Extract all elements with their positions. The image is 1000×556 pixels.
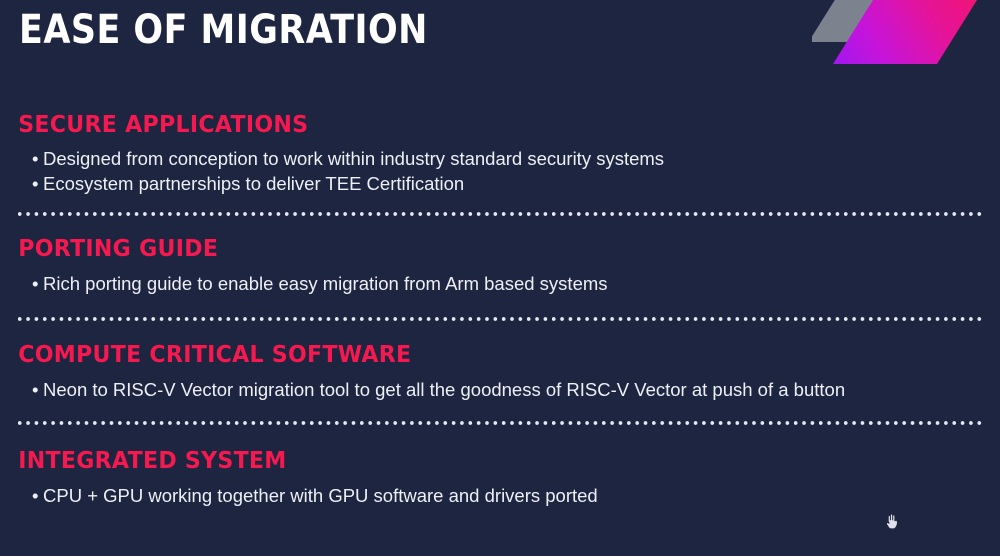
list-item-label: Designed from conception to work within … [43, 148, 664, 169]
list-item: • Designed from conception to work withi… [0, 146, 1000, 171]
dotted-divider [18, 418, 984, 428]
dotted-divider [18, 209, 984, 219]
bullet-list: • Neon to RISC-V Vector migration tool t… [0, 377, 1000, 402]
bullet-marker-icon: • [32, 146, 38, 171]
section-heading: COMPUTE CRITICAL SOFTWARE [0, 342, 960, 368]
brand-logo [812, 0, 992, 70]
list-item-label: Rich porting guide to enable easy migrat… [43, 273, 608, 294]
grab-hand-cursor-icon [884, 512, 900, 530]
section-compute-critical-software: COMPUTE CRITICAL SOFTWARE • Neon to RISC… [0, 342, 1000, 402]
presentation-slide: EASE OF MIGRATION SECURE APPLICATIONS • … [0, 0, 1000, 556]
bullet-marker-icon: • [32, 483, 38, 508]
list-item-label: Neon to RISC-V Vector migration tool to … [43, 379, 845, 400]
list-item-label: Ecosystem partnerships to deliver TEE Ce… [43, 173, 464, 194]
bullet-marker-icon: • [32, 377, 38, 402]
bullet-list: • CPU + GPU working together with GPU so… [0, 483, 1000, 508]
bullet-marker-icon: • [32, 171, 38, 196]
bullet-list: • Designed from conception to work withi… [0, 146, 1000, 196]
section-heading: INTEGRATED SYSTEM [0, 448, 960, 474]
dotted-divider [18, 314, 984, 324]
list-item: • Rich porting guide to enable easy migr… [0, 271, 1000, 296]
page-title: EASE OF MIGRATION [19, 8, 428, 52]
section-heading: SECURE APPLICATIONS [0, 112, 960, 138]
slide-content: SECURE APPLICATIONS • Designed from conc… [0, 106, 1000, 508]
section-integrated-system: INTEGRATED SYSTEM • CPU + GPU working to… [0, 448, 1000, 508]
list-item-label: CPU + GPU working together with GPU soft… [43, 485, 598, 506]
section-porting-guide: PORTING GUIDE • Rich porting guide to en… [0, 236, 1000, 296]
list-item: • Neon to RISC-V Vector migration tool t… [0, 377, 1000, 402]
list-item: • Ecosystem partnerships to deliver TEE … [0, 171, 1000, 196]
bullet-marker-icon: • [32, 271, 38, 296]
section-heading: PORTING GUIDE [0, 236, 960, 262]
section-secure-applications: SECURE APPLICATIONS • Designed from conc… [0, 112, 1000, 196]
bullet-list: • Rich porting guide to enable easy migr… [0, 271, 1000, 296]
list-item: • CPU + GPU working together with GPU so… [0, 483, 1000, 508]
